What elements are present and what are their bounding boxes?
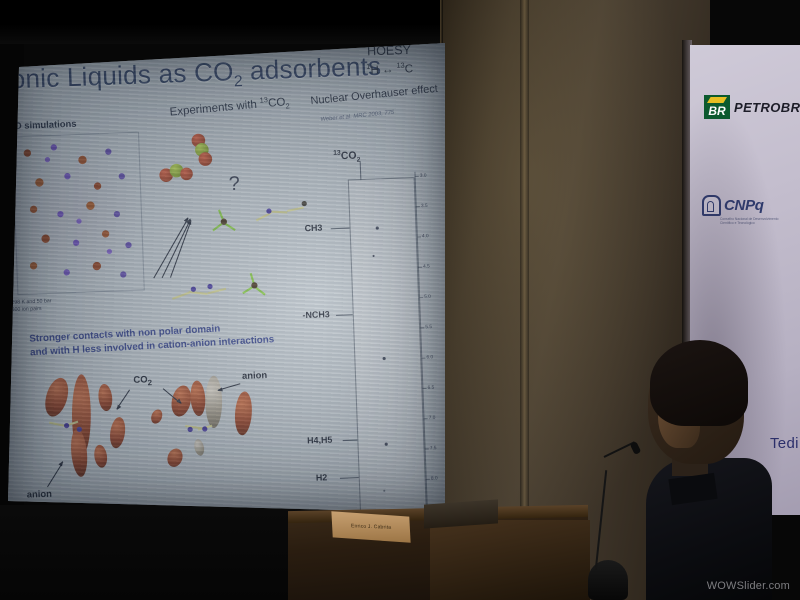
slide-title: Ionic Liquids as CO2 adsorbents [8, 52, 382, 99]
experiments-label: Experiments with 13CO2 [169, 95, 290, 121]
petrobras-wordmark: PETROBRAS [734, 100, 800, 115]
nmr-tick-4: 5.0 [424, 294, 431, 299]
projection-screen: Ionic Liquids as CO2 adsorbents MD simul… [8, 43, 448, 513]
microphone-base [588, 560, 628, 600]
noe-arrows-group [146, 179, 223, 286]
speaker-person [628, 340, 778, 600]
nmr-peak-ch3 [376, 226, 379, 229]
anion-annotation-left: anion [27, 488, 52, 499]
nmr-tick-6: 6.0 [426, 354, 433, 359]
cnpq-wordmark: CNPq [724, 197, 764, 214]
nmr-xaxis-mid: CO [341, 150, 357, 162]
lectern-front-panel [430, 520, 590, 600]
nmr-leader-line [360, 161, 362, 180]
cnpq-subtitle-line1: Conselho Nacional de Desenvolvimento [720, 217, 778, 221]
nmr-tick-1: 3.5 [421, 203, 428, 208]
co2-annotation-sub: 2 [147, 378, 152, 388]
slide-content: Ionic Liquids as CO2 adsorbents MD simul… [8, 43, 448, 513]
md-caption-line2: 300 ion pairs [12, 305, 52, 314]
hoesy-nuclei-mid: H ↔ [370, 63, 397, 76]
md-simulation-box-image [12, 132, 145, 295]
co2-annotation-text: CO [133, 374, 147, 385]
nmr-row-label-nch3: -NCH3 [302, 309, 330, 320]
nmr-peak-nch3 [383, 357, 386, 360]
experiments-label-sub: 2 [285, 103, 290, 111]
citation-text: Weber et al. MRC 2003, 775 [320, 110, 394, 123]
watermark: WOWSlider.com [707, 580, 790, 592]
experiments-label-tail: CO [268, 96, 286, 110]
nmr-tick-7: 6.5 [427, 384, 434, 389]
nmr-xaxis-title: 13CO2 [333, 149, 361, 165]
density-surface-figure: CO2 anion anion [16, 363, 282, 508]
nmr-tick-8: 7.0 [429, 415, 436, 420]
slide-title-main: Ionic Liquids as CO [8, 57, 234, 95]
nmr-2d-plot-area [348, 177, 427, 513]
hoesy-nuclei-end: C [405, 63, 414, 76]
hoesy-nuclei: 1H ↔ 13C [342, 57, 437, 80]
nmr-peak-h2 [383, 490, 385, 492]
nmr-row-label-h4h5: H4,H5 [307, 434, 333, 445]
hoesy-heading: HOESY 1H ↔ 13C [342, 43, 437, 80]
speaker-nameplate-text: Enrico J. Cabrita [351, 523, 392, 530]
nmr-peak-h4h5 [385, 443, 388, 446]
nmr-tick-0: 3.0 [420, 172, 427, 177]
photo-scene: BR PETROBRAS CNPq Conselho Nacional de D… [0, 0, 800, 600]
speaker-hair [650, 340, 748, 426]
dark-edge-top [0, 0, 440, 44]
speaker-nameplate: Enrico J. Cabrita [331, 511, 410, 543]
question-mark-annotation: ? [228, 173, 240, 196]
cnpq-logo: CNPq Conselho Nacional de Desenvolviment… [702, 195, 778, 225]
nmr-tick-2: 4.0 [422, 233, 429, 238]
anion-annotation-right: anion [242, 370, 267, 381]
dark-edge-bottom [0, 505, 310, 600]
md-caption: 298 K and 50 bar 300 ion pairs [11, 298, 52, 314]
petrobras-mark-icon: BR [704, 95, 730, 119]
nmr-tick-3: 4.5 [423, 263, 430, 268]
cnpq-mark-icon [702, 195, 721, 216]
conclusion-note: Stronger contacts with non polar domain … [29, 318, 275, 358]
nmr-row-label-h2: H2 [316, 472, 328, 483]
nmr-tick-9: 7.5 [430, 445, 437, 450]
petrobras-br-text: BR [708, 103, 725, 119]
nmr-peak-ch3b [373, 255, 375, 257]
petrobras-yellow-bar-icon [707, 97, 727, 103]
experiments-label-text: Experiments with [169, 98, 260, 119]
petrobras-logo: BR PETROBRAS [704, 95, 800, 119]
nmr-tick-10: 8.0 [431, 475, 438, 480]
co2-annotation-label: CO2 [133, 374, 152, 388]
nmr-tick-5: 5.5 [425, 324, 432, 329]
cnpq-subtitle-line2: Científico e Tecnológico [720, 221, 778, 225]
md-simulations-label: MD simulations [8, 118, 77, 131]
nmr-row-label-ch3: CH3 [304, 222, 322, 233]
